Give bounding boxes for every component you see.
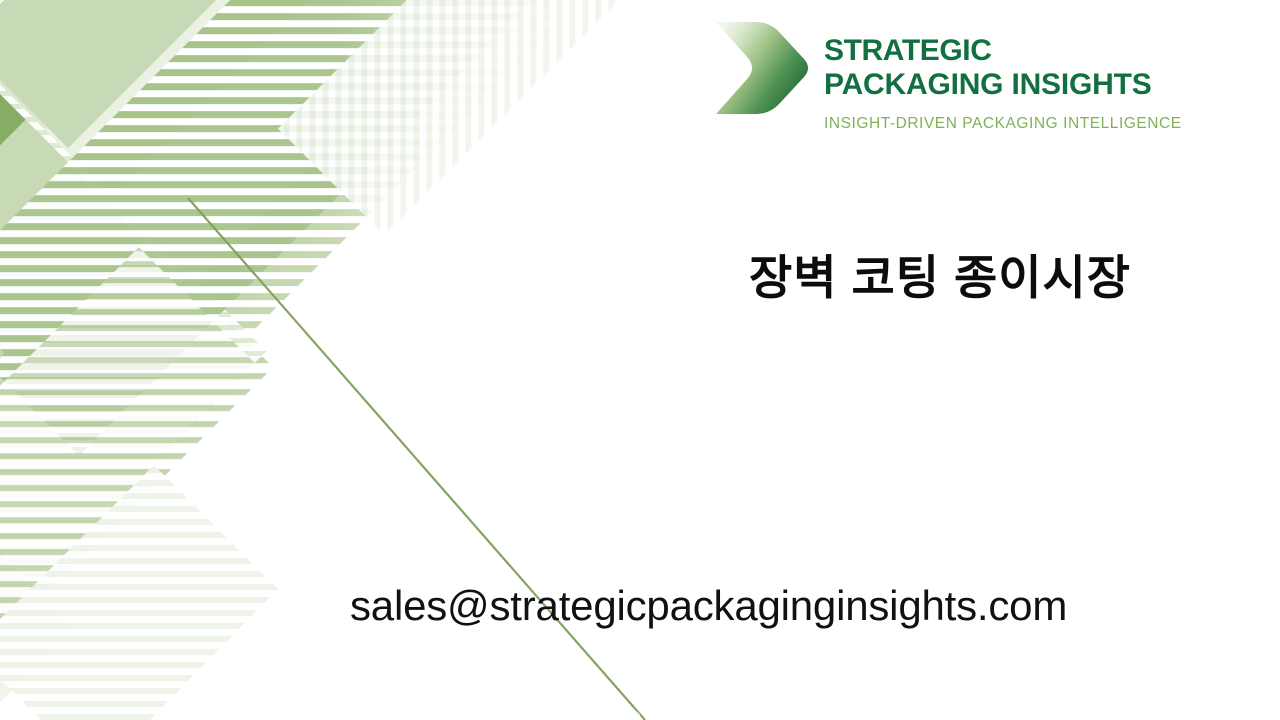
chevron-mark-icon xyxy=(712,16,812,120)
logo-wordmark: STRATEGIC PACKAGING INSIGHTS xyxy=(824,34,1182,102)
logo-text-block: STRATEGIC PACKAGING INSIGHTS INSIGHT-DRI… xyxy=(824,14,1182,133)
title-slide: STRATEGIC PACKAGING INSIGHTS INSIGHT-DRI… xyxy=(0,0,1280,720)
brand-logo: STRATEGIC PACKAGING INSIGHTS INSIGHT-DRI… xyxy=(712,14,1217,140)
contact-email[interactable]: sales@strategicpackaginginsights.com xyxy=(350,580,1067,632)
logo-tagline: INSIGHT-DRIVEN PACKAGING INTELLIGENCE xyxy=(824,115,1182,133)
logo-wordmark-line2: PACKAGING INSIGHTS xyxy=(824,68,1182,102)
page-title: 장벽 코팅 종이시장 xyxy=(640,248,1240,308)
logo-wordmark-line1: STRATEGIC xyxy=(824,34,1182,68)
